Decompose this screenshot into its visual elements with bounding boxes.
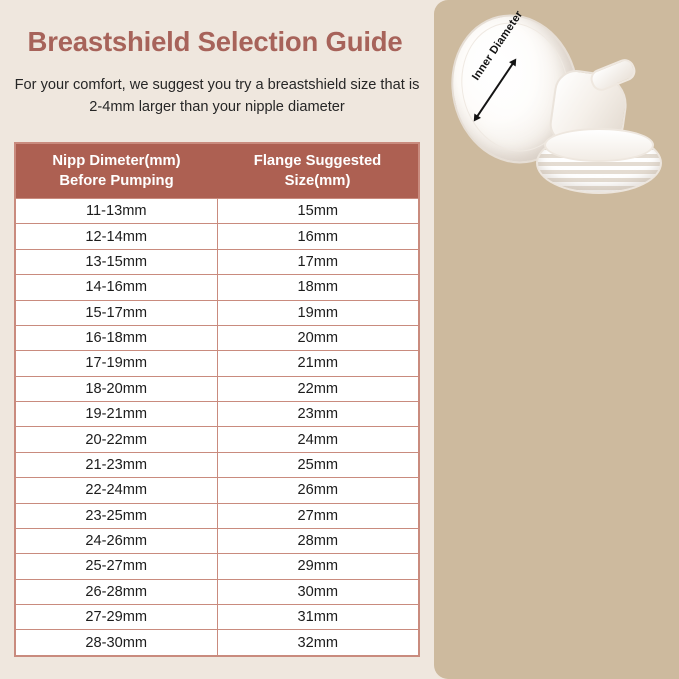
cell-nipple-diameter: 13-15mm bbox=[15, 249, 217, 274]
cell-flange-size: 16mm bbox=[217, 224, 419, 249]
column-header-line-1: Nipp Dimeter(mm) bbox=[20, 151, 213, 171]
table-row: 23-25mm27mm bbox=[15, 503, 419, 528]
column-header-nipple-diameter: Nipp Dimeter(mm) Before Pumping bbox=[15, 143, 217, 199]
column-header-flange-size: Flange Suggested Size(mm) bbox=[217, 143, 419, 199]
cell-flange-size: 18mm bbox=[217, 275, 419, 300]
cell-flange-size: 31mm bbox=[217, 605, 419, 630]
table-header-row: Nipp Dimeter(mm) Before Pumping Flange S… bbox=[15, 143, 419, 199]
flange-product-image: Inner Diameter bbox=[440, 6, 673, 202]
cell-flange-size: 20mm bbox=[217, 325, 419, 350]
cell-flange-size: 25mm bbox=[217, 452, 419, 477]
table-row: 18-20mm22mm bbox=[15, 376, 419, 401]
table-row: 14-16mm18mm bbox=[15, 275, 419, 300]
table-row: 12-14mm16mm bbox=[15, 224, 419, 249]
cell-flange-size: 23mm bbox=[217, 402, 419, 427]
cell-nipple-diameter: 18-20mm bbox=[15, 376, 217, 401]
illustration-panel: Inner Diameter ✔ Areola Nipple Good Fit bbox=[434, 0, 679, 679]
table-row: 24-26mm28mm bbox=[15, 528, 419, 553]
cell-flange-size: 19mm bbox=[217, 300, 419, 325]
table-row: 22-24mm26mm bbox=[15, 478, 419, 503]
cell-flange-size: 17mm bbox=[217, 249, 419, 274]
cell-flange-size: 30mm bbox=[217, 579, 419, 604]
cell-nipple-diameter: 12-14mm bbox=[15, 224, 217, 249]
cell-flange-size: 21mm bbox=[217, 351, 419, 376]
cell-flange-size: 29mm bbox=[217, 554, 419, 579]
table-row: 21-23mm25mm bbox=[15, 452, 419, 477]
cell-flange-size: 22mm bbox=[217, 376, 419, 401]
table-row: 20-22mm24mm bbox=[15, 427, 419, 452]
cell-nipple-diameter: 14-16mm bbox=[15, 275, 217, 300]
guide-left-column: Breastshield Selection Guide For your co… bbox=[0, 0, 434, 679]
column-header-line-1: Flange Suggested bbox=[221, 151, 414, 171]
cell-nipple-diameter: 17-19mm bbox=[15, 351, 217, 376]
table-row: 11-13mm15mm bbox=[15, 199, 419, 224]
cell-flange-size: 24mm bbox=[217, 427, 419, 452]
cell-nipple-diameter: 21-23mm bbox=[15, 452, 217, 477]
table-row: 19-21mm23mm bbox=[15, 402, 419, 427]
cell-nipple-diameter: 27-29mm bbox=[15, 605, 217, 630]
cell-nipple-diameter: 24-26mm bbox=[15, 528, 217, 553]
cell-nipple-diameter: 11-13mm bbox=[15, 199, 217, 224]
column-header-line-2: Before Pumping bbox=[20, 171, 213, 191]
cell-nipple-diameter: 26-28mm bbox=[15, 579, 217, 604]
cell-nipple-diameter: 15-17mm bbox=[15, 300, 217, 325]
table-row: 13-15mm17mm bbox=[15, 249, 419, 274]
table-row: 16-18mm20mm bbox=[15, 325, 419, 350]
cell-nipple-diameter: 28-30mm bbox=[15, 630, 217, 656]
cell-nipple-diameter: 20-22mm bbox=[15, 427, 217, 452]
cell-nipple-diameter: 22-24mm bbox=[15, 478, 217, 503]
cell-flange-size: 28mm bbox=[217, 528, 419, 553]
cell-flange-size: 32mm bbox=[217, 630, 419, 656]
subtitle-text: For your comfort, we suggest you try a b… bbox=[10, 74, 424, 118]
table-body: 11-13mm15mm12-14mm16mm13-15mm17mm14-16mm… bbox=[15, 199, 419, 656]
flange-base-collar bbox=[544, 128, 654, 162]
cell-nipple-diameter: 16-18mm bbox=[15, 325, 217, 350]
table-row: 26-28mm30mm bbox=[15, 579, 419, 604]
cell-flange-size: 27mm bbox=[217, 503, 419, 528]
table-row: 15-17mm19mm bbox=[15, 300, 419, 325]
cell-flange-size: 26mm bbox=[217, 478, 419, 503]
table-row: 17-19mm21mm bbox=[15, 351, 419, 376]
cell-nipple-diameter: 23-25mm bbox=[15, 503, 217, 528]
page-title: Breastshield Selection Guide bbox=[0, 26, 430, 58]
table-row: 25-27mm29mm bbox=[15, 554, 419, 579]
sizing-table: Nipp Dimeter(mm) Before Pumping Flange S… bbox=[14, 142, 420, 657]
column-header-line-2: Size(mm) bbox=[221, 171, 414, 191]
table-row: 27-29mm31mm bbox=[15, 605, 419, 630]
cell-flange-size: 15mm bbox=[217, 199, 419, 224]
table-row: 28-30mm32mm bbox=[15, 630, 419, 656]
cell-nipple-diameter: 19-21mm bbox=[15, 402, 217, 427]
cell-nipple-diameter: 25-27mm bbox=[15, 554, 217, 579]
